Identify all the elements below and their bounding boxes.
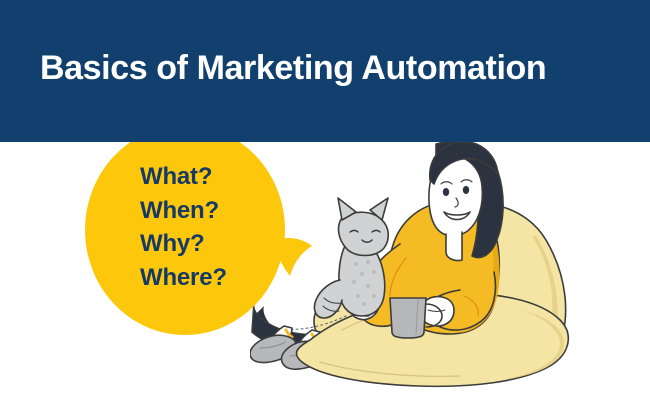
slide-canvas: What? When? Why? Where? Basics of Market… xyxy=(0,0,650,400)
bubble-line-when: When? xyxy=(140,194,310,228)
bubble-line-why: Why? xyxy=(140,227,310,261)
speech-bubble-text: What? When? Why? Where? xyxy=(140,160,310,294)
page-title: Basics of Marketing Automation xyxy=(40,46,620,90)
bubble-line-where: Where? xyxy=(140,261,310,295)
bubble-line-what: What? xyxy=(140,160,310,194)
